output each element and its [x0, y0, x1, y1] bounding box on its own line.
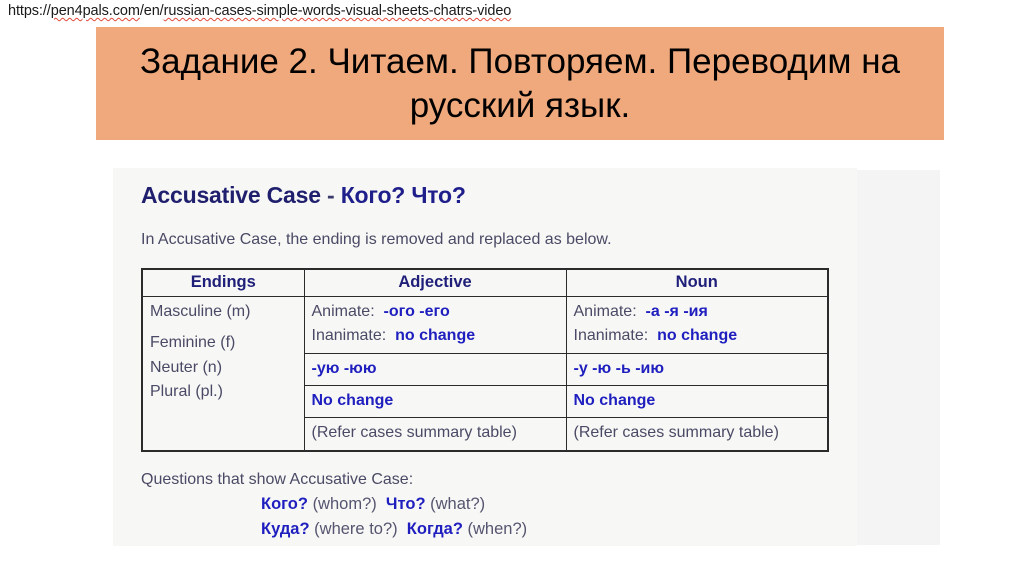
noun-neuter-value: No change	[574, 392, 656, 409]
adjective-masculine-content: Animate: -ого -его Inanimate: no change	[305, 297, 566, 353]
url-path-separator: /en/	[140, 3, 164, 19]
adjective-cell-neuter: No change	[304, 385, 566, 417]
inanimate-value: no change	[395, 327, 475, 344]
adjective-cell-feminine: -ую -юю	[304, 353, 566, 385]
questions-list: Кого? (whom?) Что? (what?) Куда? (where …	[141, 492, 829, 543]
label-spacer	[150, 324, 298, 331]
question-word-en: (whom?)	[313, 495, 377, 513]
inanimate-value: no change	[657, 327, 737, 344]
column-header-adjective: Adjective	[304, 269, 566, 297]
adjective-animate-line: Animate: -ого -его	[312, 300, 560, 324]
case-title-russian: Кого? Что?	[341, 182, 466, 208]
table-head: Endings Adjective Noun	[142, 269, 828, 297]
url-slug: russian-cases-simple-words-visual-sheets…	[164, 3, 512, 19]
table-body: Masculine (m) Feminine (f) Neuter (n) Pl…	[142, 297, 828, 451]
question-word-ru: Куда?	[261, 520, 310, 538]
table-header-row: Endings Adjective Noun	[142, 269, 828, 297]
url-prefix: https://	[8, 3, 51, 19]
adjective-cell-masculine: Animate: -ого -его Inanimate: no change	[304, 297, 566, 354]
slide-side-panel	[857, 170, 940, 545]
noun-masculine-content: Animate: -а -я -ия Inanimate: no change	[567, 297, 828, 353]
animate-label: Animate:	[312, 303, 375, 320]
noun-neuter-content: No change	[567, 386, 828, 417]
noun-animate-line: Animate: -а -я -ия	[574, 300, 822, 324]
case-title: Accusative Case - Кого? Что?	[141, 182, 829, 209]
row-label-feminine: Feminine (f)	[150, 331, 298, 355]
adjective-neuter-content: No change	[305, 386, 566, 417]
case-title-dash: -	[321, 182, 341, 208]
questions-heading: Questions that show Accusative Case:	[141, 471, 829, 489]
endings-label-cell: Masculine (m) Feminine (f) Neuter (n) Pl…	[142, 297, 304, 451]
noun-cell-plural: (Refer cases summary table)	[566, 418, 828, 451]
noun-feminine-value: -у -ю -ь -ию	[574, 360, 665, 377]
table-row: Masculine (m) Feminine (f) Neuter (n) Pl…	[142, 297, 828, 354]
case-title-english: Accusative Case	[141, 182, 321, 208]
column-header-noun: Noun	[566, 269, 828, 297]
noun-cell-feminine: -у -ю -ь -ию	[566, 353, 828, 385]
column-header-endings: Endings	[142, 269, 304, 297]
adjective-neuter-value: No change	[312, 392, 394, 409]
noun-plural-value: (Refer cases summary table)	[574, 424, 779, 441]
questions-section: Questions that show Accusative Case: Ког…	[141, 471, 829, 543]
question-word-ru: Когда?	[407, 520, 463, 538]
noun-plural-content: (Refer cases summary table)	[567, 418, 828, 449]
adjective-feminine-content: -ую -юю	[305, 354, 566, 385]
inanimate-label: Inanimate:	[574, 327, 649, 344]
question-word-ru: Кого?	[261, 495, 308, 513]
address-bar-url[interactable]: https://pen4pals.com/en/russian-cases-si…	[8, 3, 511, 19]
question-word-en: (when?)	[468, 520, 528, 538]
animate-label: Animate:	[574, 303, 637, 320]
endings-table: Endings Adjective Noun Masculine (m) Fem…	[141, 268, 829, 452]
noun-inanimate-line: Inanimate: no change	[574, 324, 822, 348]
noun-feminine-content: -у -ю -ь -ию	[567, 354, 828, 385]
animate-value: -а -я -ия	[646, 303, 708, 320]
row-label-neuter: Neuter (n)	[150, 356, 298, 380]
row-label-masculine: Masculine (m)	[150, 300, 298, 324]
row-label-plural: Plural (pl.)	[150, 380, 298, 404]
noun-cell-masculine: Animate: -а -я -ия Inanimate: no change	[566, 297, 828, 354]
adjective-plural-value: (Refer cases summary table)	[312, 424, 517, 441]
question-word-ru: Что?	[386, 495, 426, 513]
adjective-inanimate-line: Inanimate: no change	[312, 324, 560, 348]
inanimate-label: Inanimate:	[312, 327, 387, 344]
question-word-en: (what?)	[430, 495, 485, 513]
url-domain: pen4pals.com	[51, 3, 140, 19]
question-line: Кого? (whom?) Что? (what?)	[261, 492, 829, 518]
animate-value: -ого -его	[384, 303, 450, 320]
card-inner: Accusative Case - Кого? Что? In Accusati…	[113, 168, 847, 543]
slide-title-text: Задание 2. Читаем. Повторяем. Переводим …	[96, 40, 944, 127]
adjective-cell-plural: (Refer cases summary table)	[304, 418, 566, 451]
question-word-en: (where to?)	[314, 520, 397, 538]
adjective-plural-content: (Refer cases summary table)	[305, 418, 566, 449]
endings-labels: Masculine (m) Feminine (f) Neuter (n) Pl…	[143, 297, 304, 408]
accusative-case-card: Accusative Case - Кого? Что? In Accusati…	[113, 168, 857, 546]
noun-cell-neuter: No change	[566, 385, 828, 417]
slide-title-banner: Задание 2. Читаем. Повторяем. Переводим …	[96, 27, 944, 140]
case-intro-text: In Accusative Case, the ending is remove…	[141, 231, 829, 249]
question-line: Куда? (where to?) Когда? (when?)	[261, 517, 829, 543]
adjective-feminine-value: -ую -юю	[312, 360, 377, 377]
